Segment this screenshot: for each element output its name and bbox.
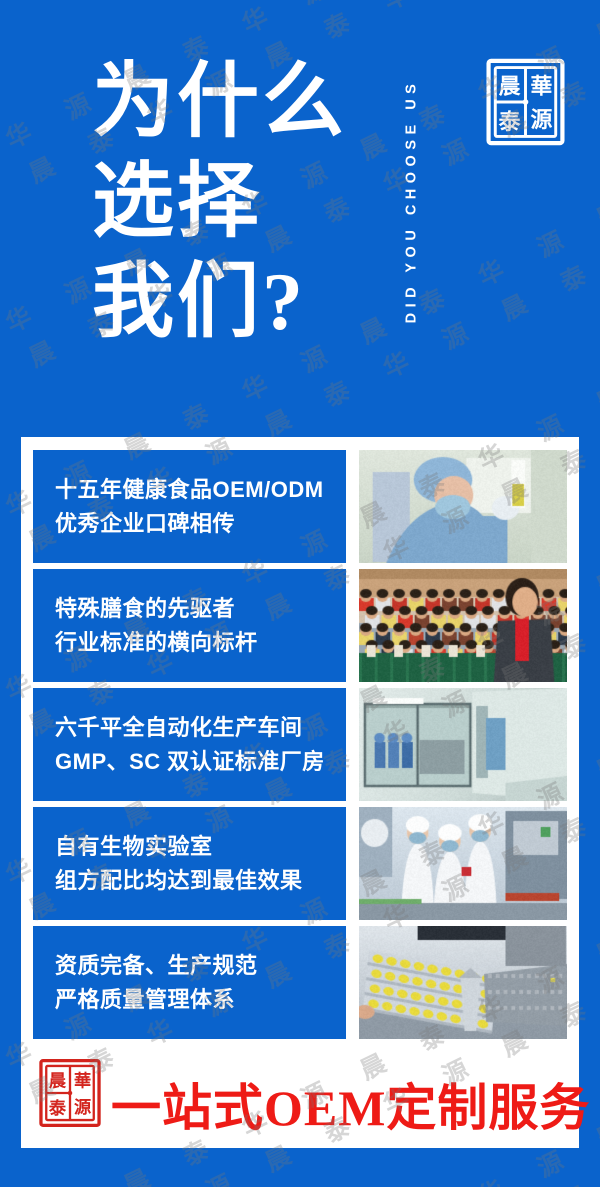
poster-root: WHY DID YOU CHOOSE US 華 源 晨 泰 为什么 选择 我们? <box>0 0 600 1187</box>
feature-row: 十五年健康食品OEM/ODM优秀企业口碑相传 <box>33 450 567 563</box>
footer-slogan-bar: 華 源 晨 泰 一站式OEM定制服务 <box>21 1060 579 1148</box>
feature-row-line: 组方配比均达到最佳效果 <box>55 864 346 897</box>
thumb-conference-audience <box>359 569 567 682</box>
thumb-cleanroom-corridor <box>359 688 567 801</box>
thumbnail-canvas <box>359 450 567 563</box>
vertical-caption-text: DID YOU CHOOSE US <box>403 79 419 324</box>
svg-text:華: 華 <box>531 75 553 100</box>
feature-row-text: 六千平全自动化生产车间GMP、SC 双认证标准厂房 <box>33 688 346 801</box>
thumbnail-canvas <box>359 807 567 920</box>
feature-row-list: 十五年健康食品OEM/ODM优秀企业口碑相传特殊膳食的先驱者行业标准的横向标杆六… <box>33 450 567 1045</box>
feature-row-line: 自有生物实验室 <box>55 830 346 863</box>
feature-row-text: 自有生物实验室组方配比均达到最佳效果 <box>33 807 346 920</box>
thumb-lab-technician <box>359 450 567 563</box>
vertical-caption: DID YOU CHOOSE US <box>398 8 424 408</box>
page-title-line-3: 我们? <box>92 252 347 352</box>
company-seal-red-icon: 華 源 晨 泰 <box>37 1056 103 1130</box>
page-title-line-1: 为什么 <box>92 52 347 152</box>
svg-text:源: 源 <box>531 108 553 133</box>
feature-row-text: 十五年健康食品OEM/ODM优秀企业口碑相传 <box>33 450 346 563</box>
svg-text:晨: 晨 <box>499 75 521 100</box>
thumbnail-canvas <box>359 926 567 1039</box>
svg-text:晨: 晨 <box>49 1071 67 1091</box>
thumbnail-canvas <box>359 688 567 801</box>
feature-row-line: 六千平全自动化生产车间 <box>55 711 346 744</box>
feature-row-text: 特殊膳食的先驱者行业标准的横向标杆 <box>33 569 346 682</box>
company-seal-white-icon: 華 源 晨 泰 <box>483 55 568 149</box>
feature-row: 资质完备、生产规范严格质量管理体系 <box>33 926 567 1039</box>
page-title: 为什么 选择 我们? <box>92 52 347 352</box>
feature-row: 自有生物实验室组方配比均达到最佳效果 <box>33 807 567 920</box>
svg-text:泰: 泰 <box>48 1098 67 1119</box>
feature-row-line: 行业标准的横向标杆 <box>55 626 346 659</box>
svg-text:華: 華 <box>74 1071 91 1091</box>
feature-row: 特殊膳食的先驱者行业标准的横向标杆 <box>33 569 567 682</box>
page-title-line-2: 选择 <box>92 152 347 252</box>
feature-row-line: 特殊膳食的先驱者 <box>55 592 346 625</box>
feature-row-line: GMP、SC 双认证标准厂房 <box>55 745 346 778</box>
thumb-tablet-packaging-machine <box>359 926 567 1039</box>
feature-row-line: 资质完备、生产规范 <box>55 949 346 982</box>
feature-row-line: 优秀企业口碑相传 <box>55 507 346 540</box>
svg-text:源: 源 <box>74 1097 92 1118</box>
svg-text:泰: 泰 <box>499 110 521 135</box>
thumbnail-canvas <box>359 569 567 682</box>
why-decoration-letters: WHY <box>430 0 442 385</box>
feature-row-line: 十五年健康食品OEM/ODM <box>55 473 346 506</box>
feature-panel: 十五年健康食品OEM/ODM优秀企业口碑相传特殊膳食的先驱者行业标准的横向标杆六… <box>21 437 579 1148</box>
feature-row: 六千平全自动化生产车间GMP、SC 双认证标准厂房 <box>33 688 567 801</box>
footer-slogan-text: 一站式OEM定制服务 <box>111 1068 590 1140</box>
thumb-production-line-staff <box>359 807 567 920</box>
feature-row-line: 严格质量管理体系 <box>55 983 346 1016</box>
feature-row-text: 资质完备、生产规范严格质量管理体系 <box>33 926 346 1039</box>
